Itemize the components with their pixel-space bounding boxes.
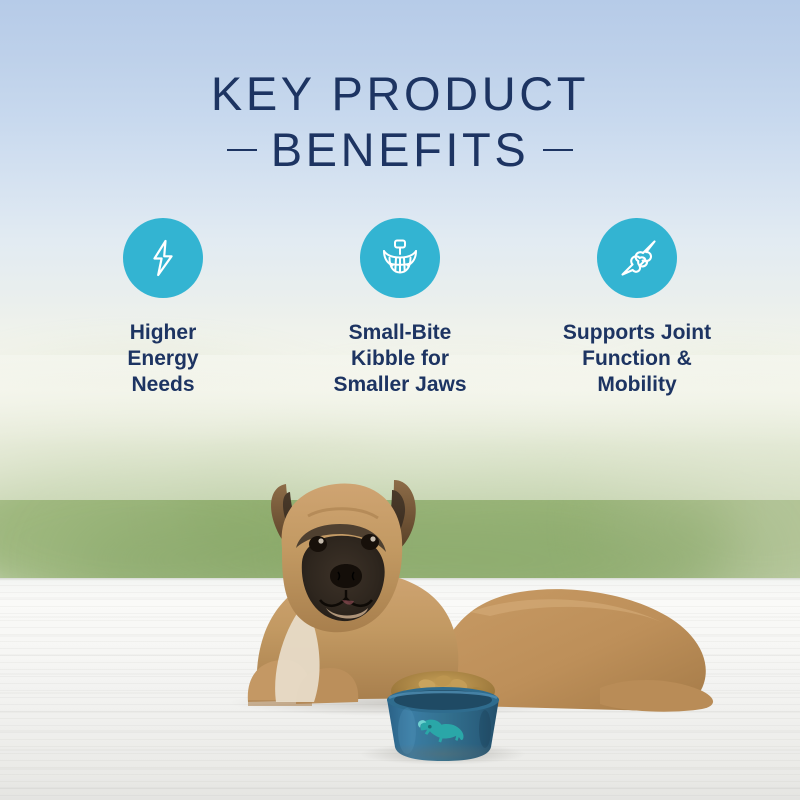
infographic-canvas: KEY PRODUCT BENEFITS Higher Energy Needs: [0, 0, 800, 800]
benefit-item-kibble: Small-Bite Kibble for Smaller Jaws: [297, 218, 503, 398]
benefit-label-energy: Higher Energy Needs: [127, 320, 198, 398]
benefit-item-energy: Higher Energy Needs: [60, 218, 266, 398]
benefit-icon-circle: [597, 218, 677, 298]
benefit-label-kibble: Small-Bite Kibble for Smaller Jaws: [333, 320, 466, 398]
page-title: KEY PRODUCT BENEFITS: [0, 68, 800, 176]
benefit-item-joint: Supports Joint Function & Mobility: [534, 218, 740, 398]
title-dash-right: [543, 149, 573, 151]
bone-joint-icon: [613, 234, 661, 282]
title-line-2: BENEFITS: [271, 124, 530, 176]
lightning-bolt-icon: [141, 236, 185, 280]
title-dash-left: [227, 149, 257, 151]
title-line-1: KEY PRODUCT: [0, 68, 800, 120]
kibble-jaw-icon: [375, 233, 425, 283]
benefit-label-joint: Supports Joint Function & Mobility: [563, 320, 711, 398]
table-edge: [0, 578, 800, 581]
benefit-icon-circle: [360, 218, 440, 298]
benefits-row: Higher Energy Needs: [60, 218, 740, 398]
dog-food-bowl: [373, 655, 513, 765]
benefit-icon-circle: [123, 218, 203, 298]
